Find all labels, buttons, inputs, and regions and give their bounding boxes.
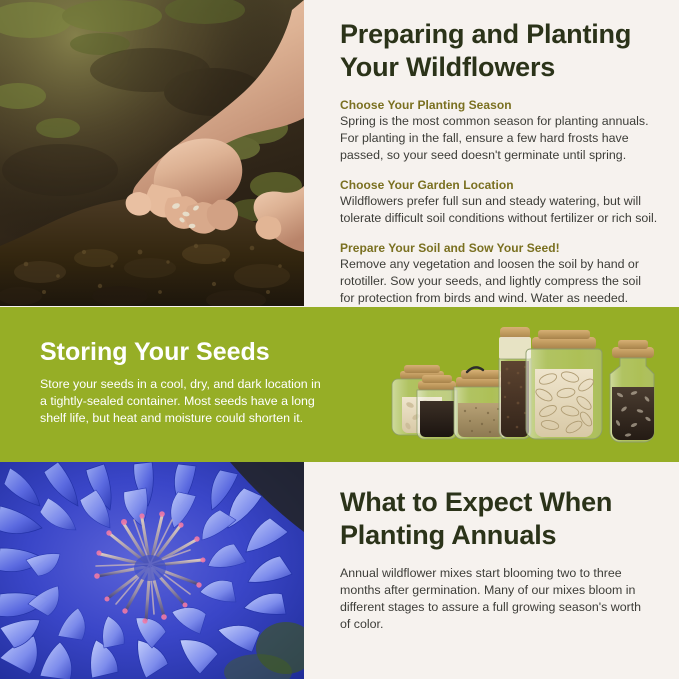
seed-jars-art [372,325,672,455]
jar-dark-seeds [417,375,457,439]
section-preparing-and-planting: Preparing and Planting Your Wildflowers … [0,0,679,306]
paragraph-prepare-soil: Remove any vegetation and loosen the soi… [340,256,658,307]
page-title: Preparing and Planting Your Wildflowers [340,18,658,84]
storing-text-column: Storing Your Seeds Store your seeds in a… [40,337,328,427]
subheading-planting-season: Choose Your Planting Season [340,98,658,112]
storing-title: Storing Your Seeds [40,337,328,367]
jar-sunflower-seeds [610,340,654,442]
expect-text-column: What to Expect When Planting Annuals Ann… [340,486,652,633]
soil-photo-art [0,0,304,306]
storing-paragraph: Store your seeds in a cool, dry, and dar… [40,376,328,427]
blue-cornflower-closeup-photo [0,462,304,679]
jar-pumpkin-seeds [526,330,602,439]
section-storing-your-seeds: Storing Your Seeds Store your seeds in a… [0,307,679,462]
infographic-page: Preparing and Planting Your Wildflowers … [0,0,679,679]
hands-sowing-seeds-in-soil-photo [0,0,304,306]
seed-jars-with-cork-lids-photo [372,325,672,455]
expect-paragraph: Annual wildflower mixes start blooming t… [340,565,652,633]
subheading-prepare-soil: Prepare Your Soil and Sow Your Seed! [340,241,658,255]
section-what-to-expect: What to Expect When Planting Annuals Ann… [0,462,679,679]
expect-title: What to Expect When Planting Annuals [340,486,652,552]
paragraph-garden-location: Wildflowers prefer full sun and steady w… [340,193,658,227]
subheading-garden-location: Choose Your Garden Location [340,178,658,192]
paragraph-planting-season: Spring is the most common season for pla… [340,113,658,164]
cornflower-art [0,462,304,679]
preparing-text-column: Preparing and Planting Your Wildflowers … [340,18,658,307]
